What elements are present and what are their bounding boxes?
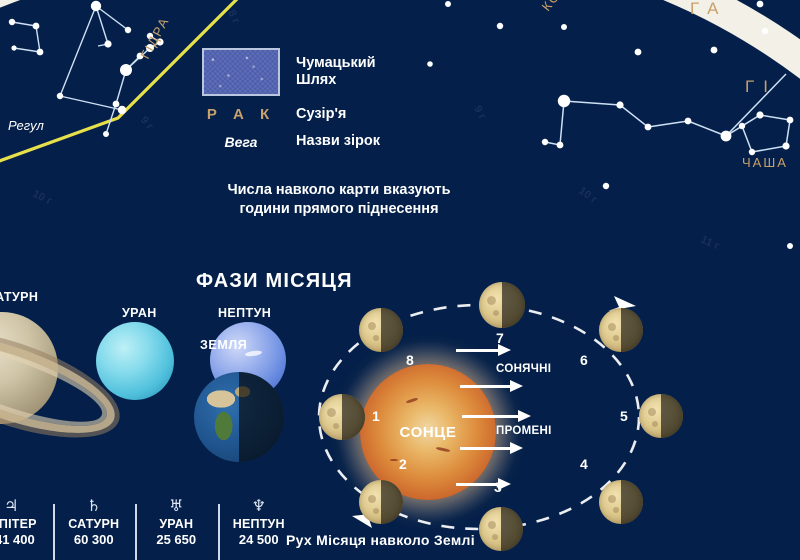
moon-phase: [479, 282, 525, 328]
constellation-label: ГА: [690, 0, 727, 18]
legend-note: Числа навколо карти вказують години прям…: [186, 181, 492, 219]
planet-table-diameter: 25 650: [156, 532, 196, 547]
moon-shadow: [621, 480, 643, 524]
legend-label-constellation: Сузір'я: [296, 106, 346, 123]
milky-way-swatch-icon: [202, 48, 280, 96]
moon-shadow: [381, 480, 403, 524]
moon-phase-number: 6: [580, 352, 588, 368]
legend-label-star-names: Назви зірок: [296, 133, 380, 150]
moon-phase-number: 7: [496, 330, 504, 346]
constellation-label: ЧАША: [742, 155, 788, 170]
moon-phase: [479, 507, 523, 551]
planet-data-table: ♃ ЮПІТЕР 141 400 ♄ САТУРН 60 300 ♅ УРАН …: [0, 496, 300, 560]
earth-night-side: [239, 372, 284, 462]
legend-row-star-names: Вега Назви зірок: [186, 133, 486, 150]
planet-table-diameter: 60 300: [74, 532, 114, 547]
planet-table-name: САТУРН: [68, 517, 119, 531]
moon-motion-caption: Рух Місяця навколо Землі: [286, 532, 475, 548]
planet-table-name: УРАН: [159, 517, 193, 531]
legend-key: Р А К: [186, 106, 296, 123]
legend-key: Вега: [186, 134, 296, 150]
planet-table-column: ♅ УРАН 25 650: [135, 496, 218, 560]
legend-label-milky-way: Чумацький Шлях: [296, 55, 376, 89]
planet-table-diameter: 141 400: [0, 532, 35, 547]
planet-symbol-icon: ♃: [4, 498, 18, 514]
planet-table-column: ♆ НЕПТУН 24 500: [218, 496, 301, 560]
moon-shadow: [501, 507, 523, 551]
moon-shadow: [502, 282, 525, 328]
planet-symbol-icon: ♄: [87, 498, 101, 514]
star-chart: ГІДРА КОМПАС ЧАША ГІ ГА Регул 8 г 9 г 9 …: [0, 0, 800, 275]
planet-table-column: ♄ САТУРН 60 300: [53, 496, 136, 560]
moon-shadow: [621, 308, 643, 352]
moon-phase-number: 1: [372, 408, 380, 424]
moon-shadow: [661, 394, 683, 438]
moon-phase: [599, 480, 643, 524]
moon-phase-number: 5: [620, 408, 628, 424]
constellation-label: ГІ: [745, 77, 777, 96]
star-name-sample-text: Вега: [225, 134, 258, 150]
moon-phase-number: 4: [580, 456, 588, 472]
earth-globe: [194, 372, 284, 462]
planet-symbol-icon: ♅: [169, 498, 183, 514]
moon-phase: [359, 480, 403, 524]
legend-key: [186, 48, 296, 96]
moon-phase: [599, 308, 643, 352]
moon-phase-number: 8: [406, 352, 414, 368]
moon-phase: [639, 394, 683, 438]
legend-row-constellation: Р А К Сузір'я: [186, 106, 486, 123]
star-label-regulus: Регул: [8, 118, 45, 133]
planet-table-name: ЮПІТЕР: [0, 517, 37, 531]
constellation-sample-text: Р А К: [207, 106, 275, 123]
planet-table-name: НЕПТУН: [233, 517, 285, 531]
planet-table-column: ♃ ЮПІТЕР 141 400: [0, 496, 53, 560]
moon-phase: [359, 308, 403, 352]
legend-row-milky-way: Чумацький Шлях: [186, 48, 486, 96]
moon-shadow: [342, 394, 365, 440]
moon-shadow: [381, 308, 403, 352]
planet-table-diameter: 24 500: [239, 532, 279, 547]
moon-phase: [319, 394, 365, 440]
moon-phase-number: 3: [494, 479, 502, 495]
poster-root: ГІДРА КОМПАС ЧАША ГІ ГА Регул 8 г 9 г 9 …: [0, 0, 800, 560]
planet-symbol-icon: ♆: [252, 498, 266, 514]
earth-label: ЗЕМЛЯ: [200, 338, 247, 352]
moon-phase-number: 2: [399, 456, 407, 472]
map-legend: Чумацький Шлях Р А К Сузір'я Вега Назви …: [186, 48, 486, 160]
